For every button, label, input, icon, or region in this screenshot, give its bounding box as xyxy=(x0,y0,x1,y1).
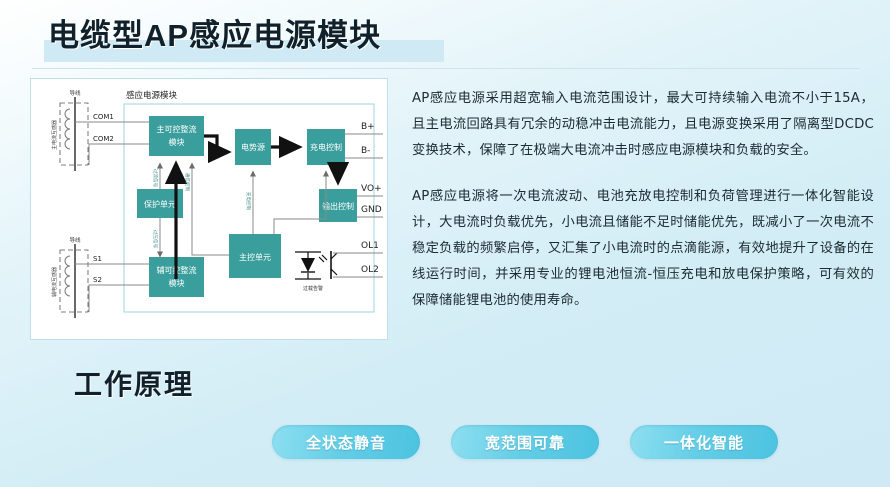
feature-pill-3[interactable]: 一体化智能 xyxy=(630,425,778,459)
block-protect-unit-label: 保护单元 xyxy=(144,199,176,209)
block-diagram-svg: 感应电源模块 导线 主电流互感器 COM1 COM2 导线 辅电流互感器 S1 … xyxy=(31,79,389,341)
diagram-module-caption: 感应电源模块 xyxy=(126,90,178,101)
block-main-control-label: 主控单元 xyxy=(239,252,271,262)
svg-text:主可控整流: 主可控整流 xyxy=(157,124,197,134)
wire-label-bottom: 导线 xyxy=(69,236,81,244)
ct-label-bottom: 辅电流互感器 xyxy=(51,267,58,297)
description-paragraph-1: AP感应电源采用超宽输入电流范围设计，最大可持续输入电流不小于15A，且主电流回… xyxy=(412,86,874,164)
signal-label-4: PWM控制 xyxy=(318,191,325,212)
terminal-bplus: B+ xyxy=(361,122,375,132)
block-potential-source-label: 电势源 xyxy=(241,142,265,152)
terminal-bminus: B- xyxy=(361,146,370,156)
block-charge-control-label: 充电控制 xyxy=(310,142,342,152)
opto-label: 过载告警 xyxy=(303,285,323,292)
svg-text:模块: 模块 xyxy=(169,137,185,147)
terminal-voplus: VO+ xyxy=(361,184,382,194)
signal-label-0: 过流信号 xyxy=(152,169,159,188)
svg-text:模块: 模块 xyxy=(169,278,185,288)
terminal-ol2: OL2 xyxy=(361,265,379,275)
description-column: AP感应电源采用超宽输入电流范围设计，最大可持续输入电流不小于15A，且主电流回… xyxy=(412,86,874,334)
signal-label-2: 过压信号 xyxy=(152,230,159,249)
block-diagram-panel: 感应电源模块 导线 主电流互感器 COM1 COM2 导线 辅电流互感器 S1 … xyxy=(30,78,388,340)
feature-pill-1[interactable]: 全状态静音 xyxy=(272,425,420,459)
terminal-com2: COM2 xyxy=(93,135,114,143)
title-divider xyxy=(32,68,860,69)
terminal-s1: S1 xyxy=(93,255,102,263)
block-main-rect xyxy=(149,116,204,156)
terminal-gnd: GND xyxy=(361,205,382,215)
block-output-control-label: 输出控制 xyxy=(322,201,354,211)
description-paragraph-2: AP感应电源将一次电流波动、电池充放电控制和负荷管理进行一体化智能设计，大电流时… xyxy=(412,184,874,314)
signal-label-3: 充电控制 xyxy=(245,192,252,211)
signal-label-1: 通信控制 xyxy=(184,173,191,192)
terminal-ol1: OL1 xyxy=(361,241,379,251)
feature-pill-row: 全状态静音 宽范围可靠 一体化智能 xyxy=(272,425,778,459)
wire-label-top: 导线 xyxy=(69,89,81,97)
feature-pill-2[interactable]: 宽范围可靠 xyxy=(451,425,599,459)
terminal-s2: S2 xyxy=(93,276,102,284)
optocoupler-symbol xyxy=(295,251,337,279)
terminal-com1: COM1 xyxy=(93,113,114,121)
page-title-block: 电缆型AP感应电源模块 xyxy=(48,14,381,58)
ct-label-top: 主电流互感器 xyxy=(51,120,58,150)
section-heading: 工作原理 xyxy=(74,363,194,403)
page-title: 电缆型AP感应电源模块 xyxy=(48,14,381,58)
